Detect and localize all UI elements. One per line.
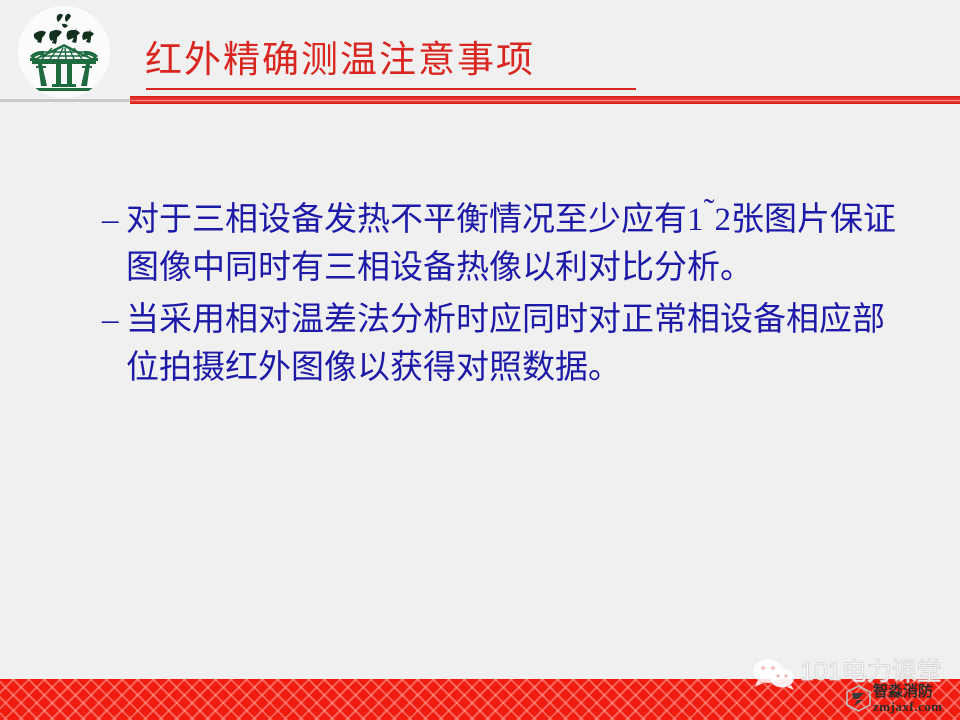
bullet-text: 当采用相对温差法分析时应同时对正常相设备相应部位拍摄红外图像以获得对照数据。 <box>126 302 885 386</box>
bullet-marker: – <box>102 196 119 244</box>
bullet-item: – 对于三相设备发热不平衡情况至少应有1˜2张图片保证图像中同时有三相设备热像以… <box>100 196 900 292</box>
watermark-url-text: zmjaxf.com <box>873 699 943 714</box>
slide-header: 红外精确测温注意事项 <box>0 0 960 104</box>
header-divider-red <box>130 96 960 104</box>
slide: 红外精确测温注意事项 – 对于三相设备发热不平衡情况至少应有1˜2张图片保证图像… <box>0 0 960 720</box>
wechat-icon <box>752 658 796 690</box>
title-underline <box>146 88 636 90</box>
header-divider-gray <box>0 99 131 102</box>
slide-content: – 对于三相设备发热不平衡情况至少应有1˜2张图片保证图像中同时有三相设备热像以… <box>100 196 900 396</box>
emblem-icon <box>12 4 116 100</box>
page-title: 红外精确测温注意事项 <box>145 38 535 84</box>
watermark-logo-icon <box>845 685 872 712</box>
logo <box>12 4 116 100</box>
bullet-text-part-1: 对于三相设备发热不平衡情况至少应有1 <box>126 202 704 238</box>
bullet-item: – 当采用相对温差法分析时应同时对正常相设备相应部位拍摄红外图像以获得对照数据。 <box>100 296 900 392</box>
watermark: 智淼消防 zmjaxf.com <box>845 683 960 717</box>
watermark-cn-text: 智淼消防 <box>873 683 933 700</box>
bullet-marker: – <box>102 296 119 344</box>
